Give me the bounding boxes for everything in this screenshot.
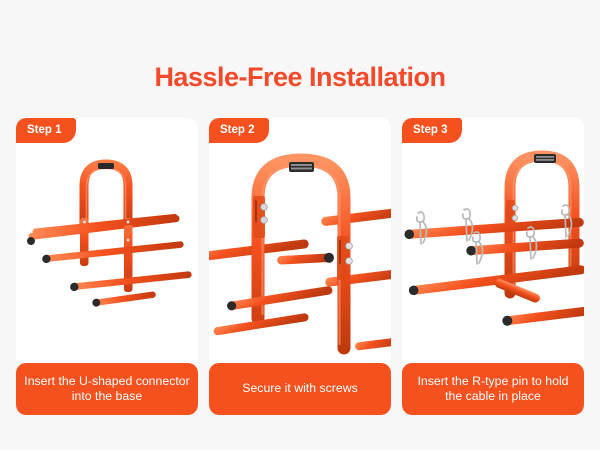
page-title: Hassle-Free Installation [0, 60, 600, 94]
step-2-photo [209, 118, 391, 363]
step-caption-3: Insert the R-type pin to hold the cable … [402, 363, 584, 415]
step-badge-1: Step 1 [16, 118, 76, 143]
step-card-2[interactable]: Step 2 Secure it with screws [209, 118, 391, 415]
step-1-photo [16, 118, 198, 363]
step-badge-3: Step 3 [402, 118, 462, 143]
step-3-photo [402, 118, 584, 363]
steps-row: Step 1 Insert the U-shaped connector int… [16, 118, 584, 415]
step-badge-2: Step 2 [209, 118, 269, 143]
step-caption-2: Secure it with screws [209, 363, 391, 415]
step-card-1[interactable]: Step 1 Insert the U-shaped connector int… [16, 118, 198, 415]
u-shaped-connector-and-base-rails-photo [16, 118, 198, 363]
arch-bracket-screws-closeup-photo [209, 118, 391, 363]
r-type-pins-on-rails-photo [402, 118, 584, 363]
installation-infographic: Hassle-Free Installation [0, 0, 600, 450]
step-caption-1: Insert the U-shaped connector into the b… [16, 363, 198, 415]
step-card-3[interactable]: Step 3 Insert the R-type pin to hold the… [402, 118, 584, 415]
